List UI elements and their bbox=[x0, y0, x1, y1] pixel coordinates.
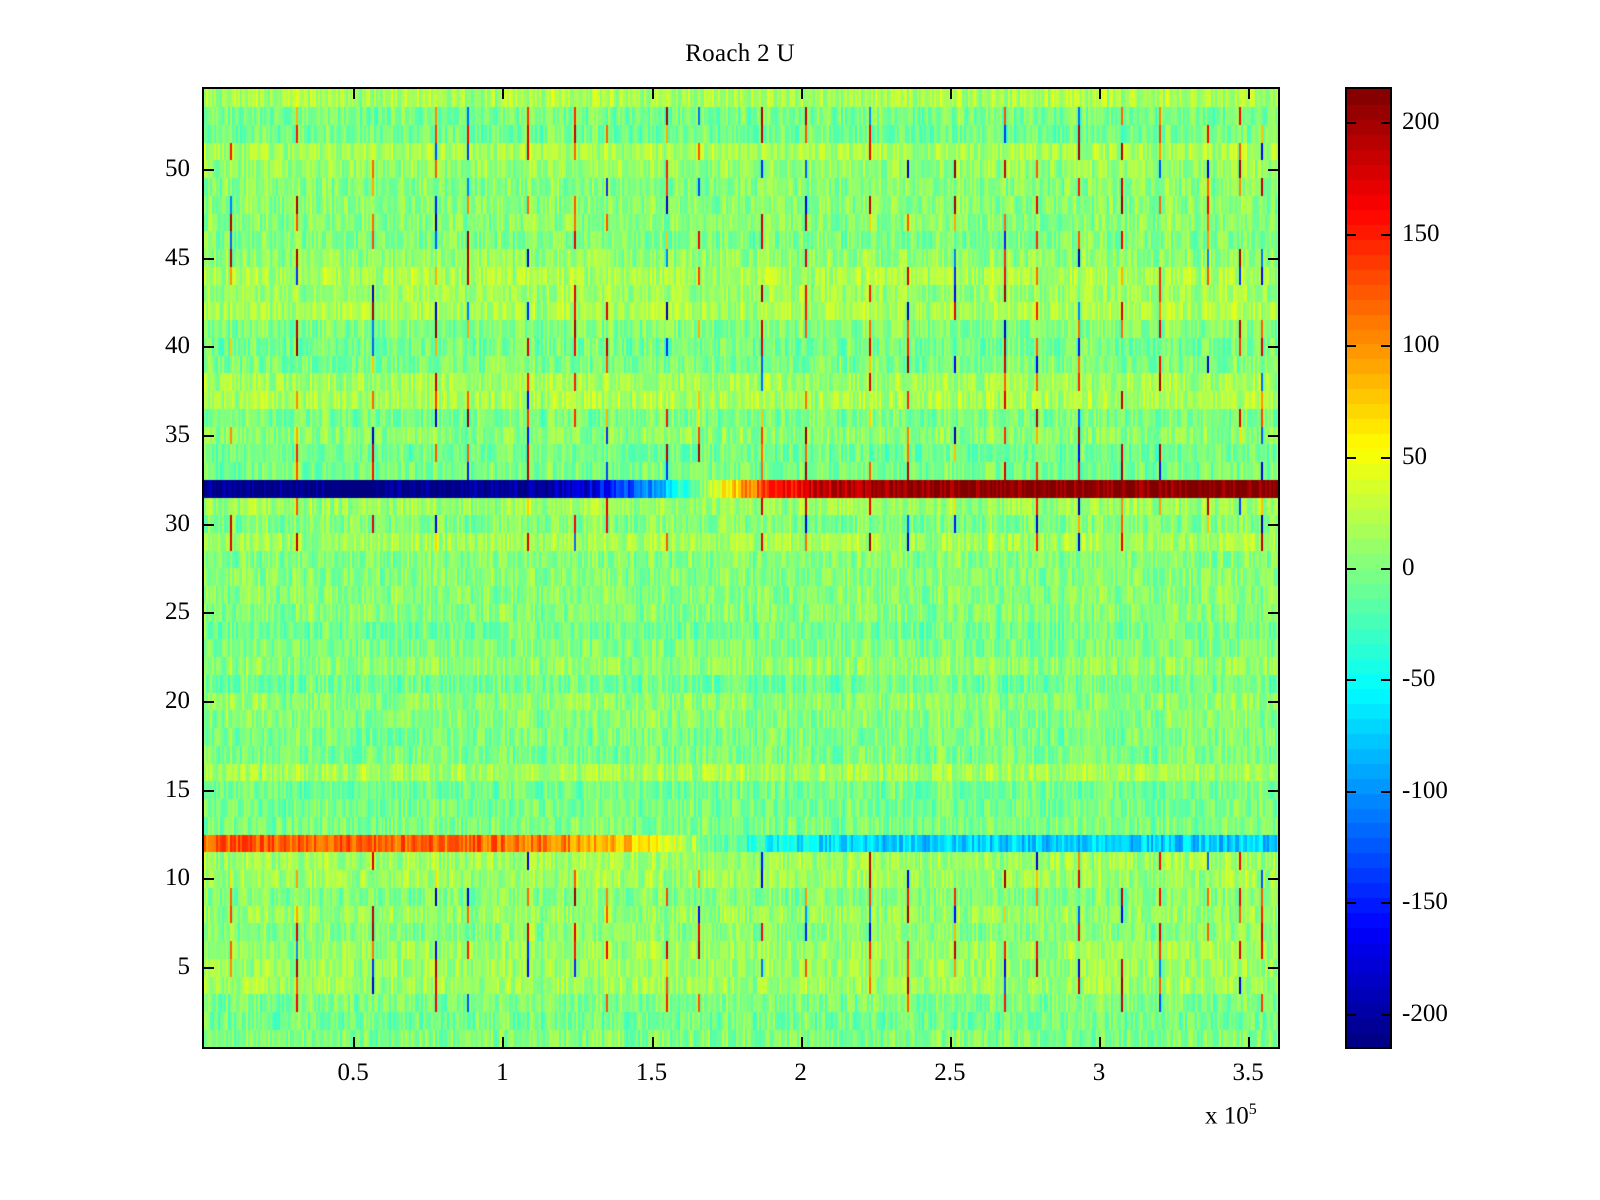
colorbar-tick-right--200 bbox=[1381, 1014, 1390, 1016]
y-tick-5 bbox=[204, 967, 214, 969]
x-tick-label-2: 2 bbox=[794, 1059, 807, 1087]
y-tick-50 bbox=[204, 169, 214, 171]
colorbar-tick-150 bbox=[1347, 234, 1356, 236]
x-tick-top-2.5 bbox=[950, 89, 952, 99]
x-axis-exponent-label: x 105 bbox=[1205, 1101, 1257, 1130]
x-tick-top-1 bbox=[502, 89, 504, 99]
x-tick-top-3 bbox=[1099, 89, 1101, 99]
x-tick-label-3: 3 bbox=[1093, 1059, 1106, 1087]
x-tick-2.5 bbox=[950, 1037, 952, 1047]
colorbar-tick--50 bbox=[1347, 679, 1356, 681]
colorbar-tick-label--200: -200 bbox=[1402, 1000, 1448, 1028]
colorbar-tick-label--150: -150 bbox=[1402, 888, 1448, 916]
y-tick-right-5 bbox=[1268, 967, 1278, 969]
colorbar-tick-0 bbox=[1347, 568, 1356, 570]
colorbar-tick-200 bbox=[1347, 122, 1356, 124]
y-tick-right-20 bbox=[1268, 701, 1278, 703]
colorbar-tick--150 bbox=[1347, 902, 1356, 904]
x-tick-0.5 bbox=[353, 1037, 355, 1047]
y-tick-right-45 bbox=[1268, 258, 1278, 260]
y-tick-40 bbox=[204, 346, 214, 348]
x-tick-label-0.5: 0.5 bbox=[338, 1059, 369, 1087]
colorbar-tick-right-0 bbox=[1381, 568, 1390, 570]
x-tick-label-2.5: 2.5 bbox=[934, 1059, 965, 1087]
y-tick-35 bbox=[204, 435, 214, 437]
figure-canvas: Roach 2 U 0.511.522.533.5 51015202530354… bbox=[0, 0, 1600, 1200]
colorbar-tick--100 bbox=[1347, 791, 1356, 793]
y-tick-label-20: 20 bbox=[122, 687, 190, 715]
heatmap-image bbox=[204, 89, 1278, 1047]
y-tick-label-50: 50 bbox=[122, 155, 190, 183]
y-tick-label-10: 10 bbox=[122, 864, 190, 892]
colorbar-tick-right--150 bbox=[1381, 902, 1390, 904]
y-tick-right-35 bbox=[1268, 435, 1278, 437]
x-tick-top-2 bbox=[801, 89, 803, 99]
x-tick-3 bbox=[1099, 1037, 1101, 1047]
y-tick-25 bbox=[204, 612, 214, 614]
y-tick-30 bbox=[204, 524, 214, 526]
y-tick-20 bbox=[204, 701, 214, 703]
y-tick-label-5: 5 bbox=[122, 953, 190, 981]
colorbar-tick-50 bbox=[1347, 457, 1356, 459]
colorbar-tick-label-50: 50 bbox=[1402, 443, 1427, 471]
colorbar-tick-right-150 bbox=[1381, 234, 1390, 236]
y-tick-label-45: 45 bbox=[122, 244, 190, 272]
x-tick-top-0.5 bbox=[353, 89, 355, 99]
x-tick-1 bbox=[502, 1037, 504, 1047]
y-tick-label-40: 40 bbox=[122, 332, 190, 360]
colorbar-tick-label--50: -50 bbox=[1402, 665, 1435, 693]
colorbar-tick-label-0: 0 bbox=[1402, 554, 1415, 582]
y-tick-right-30 bbox=[1268, 524, 1278, 526]
colorbar-tick-right-100 bbox=[1381, 345, 1390, 347]
y-tick-10 bbox=[204, 878, 214, 880]
x-tick-label-3.5: 3.5 bbox=[1233, 1059, 1264, 1087]
x-axis-exponent-power: 5 bbox=[1249, 1101, 1257, 1118]
colorbar-tick-label--100: -100 bbox=[1402, 777, 1448, 805]
y-tick-45 bbox=[204, 258, 214, 260]
y-tick-right-40 bbox=[1268, 346, 1278, 348]
y-tick-label-35: 35 bbox=[122, 421, 190, 449]
x-axis-exponent-base: x 10 bbox=[1205, 1102, 1249, 1129]
colorbar-tick-label-150: 150 bbox=[1402, 220, 1440, 248]
y-tick-15 bbox=[204, 790, 214, 792]
colorbar-tick--200 bbox=[1347, 1014, 1356, 1016]
x-tick-label-1: 1 bbox=[496, 1059, 509, 1087]
y-tick-right-15 bbox=[1268, 790, 1278, 792]
x-tick-top-1.5 bbox=[652, 89, 654, 99]
page-title: Roach 2 U bbox=[0, 40, 1480, 68]
colorbar-tick-right--50 bbox=[1381, 679, 1390, 681]
colorbar-tick-100 bbox=[1347, 345, 1356, 347]
x-tick-2 bbox=[801, 1037, 803, 1047]
colorbar-tick-right--100 bbox=[1381, 791, 1390, 793]
y-tick-right-10 bbox=[1268, 878, 1278, 880]
colorbar-tick-label-100: 100 bbox=[1402, 331, 1440, 359]
x-tick-3.5 bbox=[1248, 1037, 1250, 1047]
x-tick-top-3.5 bbox=[1248, 89, 1250, 99]
x-tick-1.5 bbox=[652, 1037, 654, 1047]
colorbar-tick-right-50 bbox=[1381, 457, 1390, 459]
colorbar[interactable] bbox=[1345, 87, 1392, 1049]
y-tick-right-50 bbox=[1268, 169, 1278, 171]
y-tick-label-30: 30 bbox=[122, 510, 190, 538]
heatmap-axes[interactable] bbox=[202, 87, 1280, 1049]
y-tick-label-15: 15 bbox=[122, 776, 190, 804]
colorbar-tick-label-200: 200 bbox=[1402, 108, 1440, 136]
y-tick-right-25 bbox=[1268, 612, 1278, 614]
x-tick-label-1.5: 1.5 bbox=[636, 1059, 667, 1087]
colorbar-tick-right-200 bbox=[1381, 122, 1390, 124]
y-tick-label-25: 25 bbox=[122, 598, 190, 626]
